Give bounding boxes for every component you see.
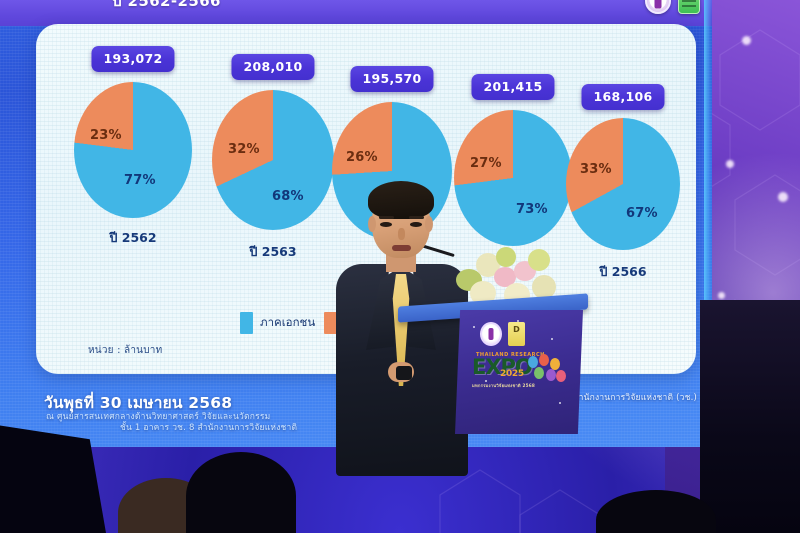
presentation-clicker-icon <box>396 366 412 380</box>
pie-year-label-2: ปี 2563 <box>249 242 296 262</box>
unit-note-text: หน่วย : ล้านบาท <box>88 343 162 358</box>
pie-chart-1 <box>74 82 192 218</box>
pie-slice-label-blue-5: 67% <box>626 206 658 221</box>
expo-logo-sub-text: มหกรรมงานวิจัยแห่งชาติ 2568 <box>472 382 535 389</box>
bokeh-light <box>742 36 751 45</box>
thailand-research-expo-logo: THAILAND RESEARCH EXPO 2025 มหกรรมงานวิจ… <box>470 352 570 394</box>
presenter-hair <box>368 181 434 219</box>
podium-award-badge-icon <box>508 322 525 346</box>
event-venue-line-2: ชั้น 1 อาคาร วช. 8 สำนักงานการวิจัยแห่งช… <box>120 420 297 434</box>
pie-total-badge-1: 193,072 <box>91 46 174 72</box>
presenter-nose <box>398 228 405 240</box>
pie-slice-label-orange-5: 33% <box>580 162 612 177</box>
pie-slice-label-orange-4: 27% <box>470 156 502 171</box>
audience-head-dark <box>186 452 296 533</box>
pie-total-badge-4: 201,415 <box>471 74 554 100</box>
pie-chart-4 <box>454 110 572 246</box>
podium-royal-seal-icon <box>480 322 502 346</box>
slide-title-text: ปี 2562-2566 <box>112 0 221 13</box>
bokeh-light <box>726 160 734 168</box>
conference-stage-photo: ปี 2562-2566 193,072 23% 77% ปี 2562 208… <box>0 0 800 533</box>
pie-slice-label-orange-3: 26% <box>346 150 378 165</box>
legend-item-private-sector: ภาคเอกชน <box>240 312 315 334</box>
legend-swatch-blue-icon <box>240 312 253 334</box>
presenter-brow-right <box>409 216 424 219</box>
pie-year-label-5: ปี 2566 <box>599 262 646 282</box>
flower-leaf <box>528 249 550 271</box>
bokeh-light <box>718 292 725 299</box>
presenter-ear-right <box>425 216 433 232</box>
pie-slice-label-blue-4: 73% <box>516 202 548 217</box>
presenter-eye-right <box>410 222 422 227</box>
foreground-dark-object-right <box>700 300 800 533</box>
pie-chart-5 <box>566 118 680 250</box>
expo-logo-year-text: 2025 <box>500 369 524 379</box>
pie-year-label-1: ปี 2562 <box>109 228 156 248</box>
pie-total-badge-5: 168,106 <box>581 84 664 110</box>
pie-slice-label-blue-1: 77% <box>124 173 156 188</box>
presenter-ear-left <box>368 216 376 232</box>
slide-title-band: ปี 2562-2566 <box>0 0 712 26</box>
presenter-eye-left <box>380 222 392 227</box>
pie-slice-label-blue-2: 68% <box>272 189 304 204</box>
bokeh-light <box>778 192 788 202</box>
royal-seal-logo-icon <box>645 0 671 14</box>
pie-slice-label-orange-1: 23% <box>90 128 122 143</box>
pie-total-badge-2: 208,010 <box>231 54 314 80</box>
pie-slice-label-orange-2: 32% <box>228 142 260 157</box>
legend-label-blue: ภาคเอกชน <box>260 314 315 332</box>
flower-leaf <box>496 247 516 267</box>
presenter-brow-left <box>379 216 394 219</box>
pie-chart-group-1: 193,072 23% 77% ปี 2562 <box>68 46 198 306</box>
presenter-person <box>330 186 470 476</box>
pie-chart-2 <box>212 90 334 230</box>
pie-total-badge-3: 195,570 <box>350 66 433 92</box>
pie-chart-group-2: 208,010 32% 68% ปี 2563 <box>206 54 340 314</box>
presenter-mouth <box>392 245 411 251</box>
nrct-green-logo-icon <box>678 0 700 14</box>
